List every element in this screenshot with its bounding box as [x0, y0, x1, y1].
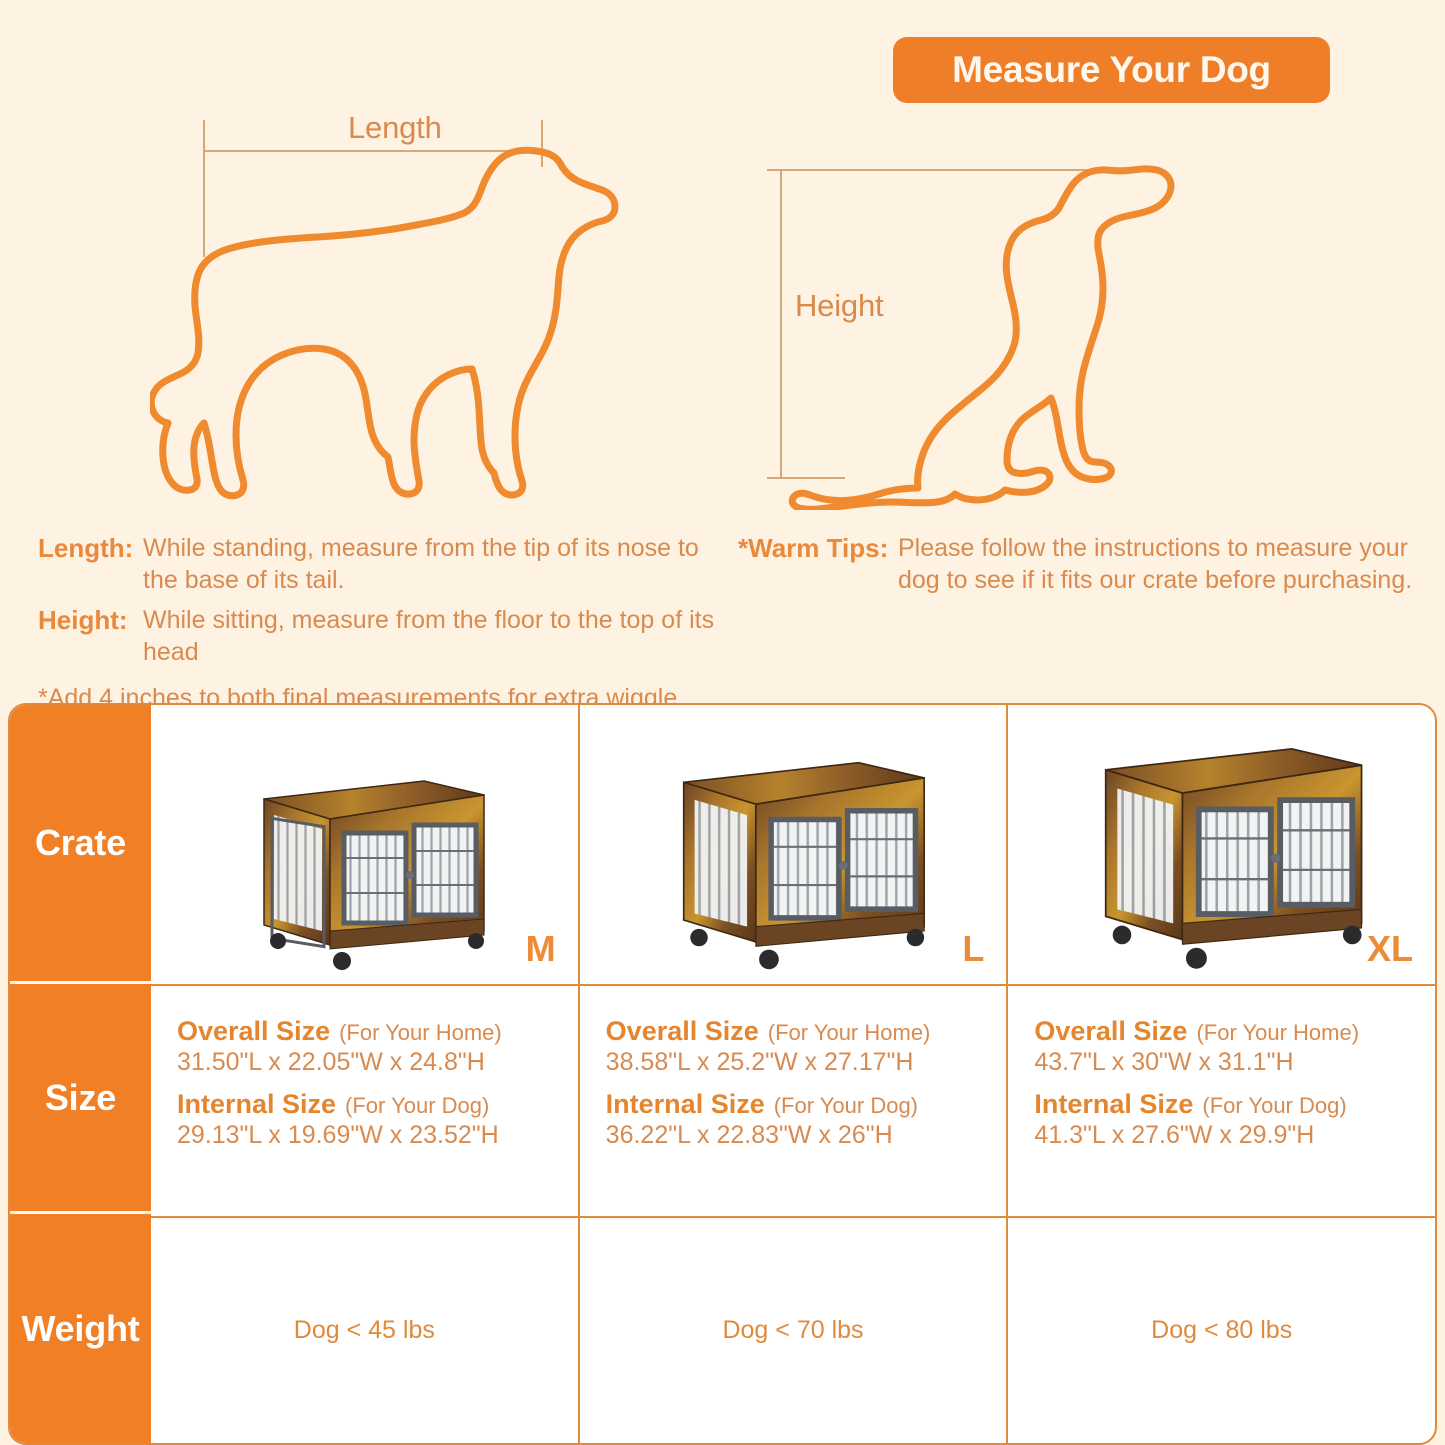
weight-value-l: Dog < 70 lbs	[722, 1316, 863, 1345]
size-comparison-table: Crate Size Weight	[8, 703, 1437, 1445]
crate-photo-l	[648, 743, 938, 978]
crate-photo-m	[238, 763, 490, 978]
weight-value-m: Dog < 45 lbs	[294, 1316, 435, 1345]
table-row-size: Overall Size (For Your Home) 31.50"L x 2…	[151, 986, 1435, 1218]
row-label-crate: Crate	[10, 705, 151, 984]
size-cell-xl: Overall Size (For Your Home) 43.7"L x 30…	[1008, 986, 1435, 1216]
overall-size-heading-l: Overall Size	[606, 1016, 759, 1047]
crate-cell-l: L	[580, 705, 1009, 984]
height-instruction-row: Height: While sitting, measure from the …	[38, 604, 718, 668]
warm-tips-value: Please follow the instructions to measur…	[898, 532, 1428, 596]
internal-size-dims-xl: 41.3"L x 27.6"W x 29.9"H	[1034, 1121, 1435, 1150]
height-label: Height	[795, 288, 883, 324]
height-instruction-value: While sitting, measure from the floor to…	[143, 604, 718, 668]
size-tag-xl: XL	[1367, 928, 1413, 970]
length-label: Length	[348, 110, 442, 146]
internal-size-dims-m: 29.13"L x 19.69"W x 23.52"H	[177, 1121, 578, 1150]
overall-size-subtitle-xl: (For Your Home)	[1196, 1020, 1359, 1046]
row-label-weight: Weight	[10, 1214, 151, 1443]
warm-tips-block: *Warm Tips: Please follow the instructio…	[738, 532, 1428, 604]
overall-size-subtitle-m: (For Your Home)	[339, 1020, 502, 1046]
weight-value-xl: Dog < 80 lbs	[1151, 1316, 1292, 1345]
warm-tips-row: *Warm Tips: Please follow the instructio…	[738, 532, 1428, 596]
crate-image-wrap-l	[580, 705, 1007, 984]
warm-tips-key: *Warm Tips:	[738, 532, 898, 565]
internal-size-subtitle-l: (For Your Dog)	[774, 1093, 918, 1119]
length-instruction-value: While standing, measure from the tip of …	[143, 532, 718, 596]
length-instruction-row: Length: While standing, measure from the…	[38, 532, 718, 596]
internal-size-line-xl: Internal Size (For Your Dog)	[1034, 1089, 1435, 1120]
internal-size-heading-xl: Internal Size	[1034, 1089, 1193, 1120]
overall-size-line-m: Overall Size (For Your Home)	[177, 1016, 578, 1047]
weight-cell-m: Dog < 45 lbs	[151, 1218, 580, 1443]
row-label-size: Size	[10, 984, 151, 1214]
weight-cell-xl: Dog < 80 lbs	[1008, 1218, 1435, 1443]
overall-size-subtitle-l: (For Your Home)	[768, 1020, 931, 1046]
badge-title: Measure Your Dog	[952, 49, 1271, 91]
internal-size-heading-m: Internal Size	[177, 1089, 336, 1120]
size-tag-m: M	[526, 928, 556, 970]
overall-size-heading-xl: Overall Size	[1034, 1016, 1187, 1047]
measure-your-dog-badge: Measure Your Dog	[893, 37, 1330, 103]
standing-dog-diagram: Length	[150, 105, 620, 505]
table-grid: M	[151, 705, 1435, 1443]
overall-size-dims-xl: 43.7"L x 30"W x 31.1"H	[1034, 1048, 1435, 1077]
crate-photo-xl	[1062, 728, 1382, 978]
sitting-dog-outline-svg	[755, 150, 1225, 510]
crate-image-wrap-m	[151, 705, 578, 984]
size-cell-l: Overall Size (For Your Home) 38.58"L x 2…	[580, 986, 1009, 1216]
internal-size-subtitle-m: (For Your Dog)	[345, 1093, 489, 1119]
crate-cell-xl: XL	[1008, 705, 1435, 984]
dog-body-outline	[151, 150, 615, 495]
internal-size-line-l: Internal Size (For Your Dog)	[606, 1089, 1007, 1120]
overall-size-line-l: Overall Size (For Your Home)	[606, 1016, 1007, 1047]
size-tag-l: L	[962, 928, 984, 970]
table-row-crate: M	[151, 705, 1435, 986]
dog-sitting-outline	[792, 169, 1171, 509]
length-instruction-key: Length:	[38, 532, 143, 565]
size-cell-m: Overall Size (For Your Home) 31.50"L x 2…	[151, 986, 580, 1216]
infographic-page: Measure Your Dog Length Height	[0, 0, 1445, 1445]
internal-size-subtitle-xl: (For Your Dog)	[1202, 1093, 1346, 1119]
weight-cell-l: Dog < 70 lbs	[580, 1218, 1009, 1443]
table-row-weight: Dog < 45 lbs Dog < 70 lbs Dog < 80 lbs	[151, 1218, 1435, 1443]
overall-size-heading-m: Overall Size	[177, 1016, 330, 1047]
overall-size-line-xl: Overall Size (For Your Home)	[1034, 1016, 1435, 1047]
standing-dog-outline-svg	[150, 105, 620, 505]
crate-cell-m: M	[151, 705, 580, 984]
internal-size-heading-l: Internal Size	[606, 1089, 765, 1120]
internal-size-line-m: Internal Size (For Your Dog)	[177, 1089, 578, 1120]
overall-size-dims-m: 31.50"L x 22.05"W x 24.8"H	[177, 1048, 578, 1077]
table-row-label-column: Crate Size Weight	[10, 705, 151, 1443]
overall-size-dims-l: 38.58"L x 25.2"W x 27.17"H	[606, 1048, 1007, 1077]
internal-size-dims-l: 36.22"L x 22.83"W x 26"H	[606, 1121, 1007, 1150]
sitting-dog-diagram: Height	[755, 150, 1225, 510]
height-instruction-key: Height:	[38, 604, 143, 637]
